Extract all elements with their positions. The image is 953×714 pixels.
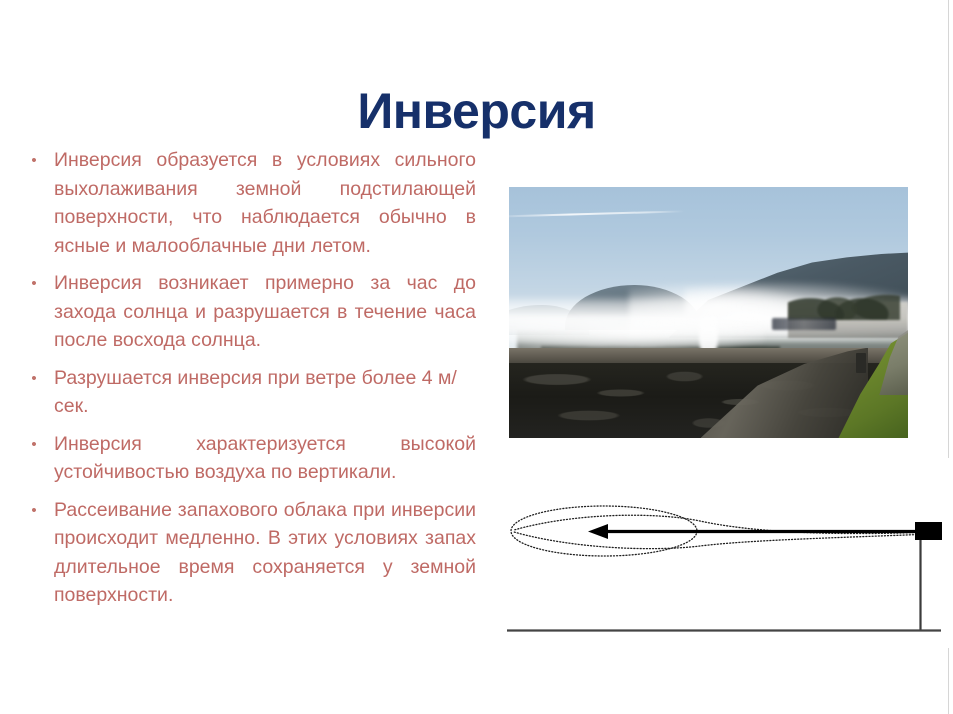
bullet-marker-icon: • [14,269,54,298]
photo-parked-cars [772,318,836,331]
bullet-list: • Инверсия образуется в условиях сильног… [14,146,476,619]
list-item: • Инверсия возникает примерно за час до … [14,269,476,355]
bullet-text: Рассеивание запахового облака при инверс… [54,496,476,610]
list-item: • Рассеивание запахового облака при инве… [14,496,476,610]
bullet-text: Инверсия характеризуется высокой устойчи… [54,430,476,487]
photo-litter-bin [856,353,866,373]
bullet-text: Инверсия возникает примерно за час до за… [54,269,476,355]
bullet-marker-icon: • [14,146,54,175]
photo-right-trees [788,270,900,320]
bullet-marker-icon: • [14,496,54,525]
slide-canvas: Инверсия • Инверсия образуется в условия… [0,0,953,714]
list-item: • Инверсия характеризуется высокой устой… [14,430,476,487]
bullet-text: Разрушается инверсия при ветре более 4 м… [54,364,476,421]
slide-right-edge-hairline-top [948,0,949,458]
bullet-marker-icon: • [14,364,54,393]
bullet-text: Инверсия образуется в условиях сильного … [54,146,476,260]
inversion-fog-landscape-photo [509,187,908,438]
emission-source-box [915,522,942,540]
list-item: • Инверсия образуется в условиях сильног… [14,146,476,260]
slide-right-edge-hairline-bottom [948,648,949,714]
page-title: Инверсия [0,86,953,136]
bullet-marker-icon: • [14,430,54,459]
plume-dispersion-diagram [500,478,948,648]
transport-arrow-head [588,524,608,539]
list-item: • Разрушается инверсия при ветре более 4… [14,364,476,421]
plume-lower-boundary [514,532,932,549]
